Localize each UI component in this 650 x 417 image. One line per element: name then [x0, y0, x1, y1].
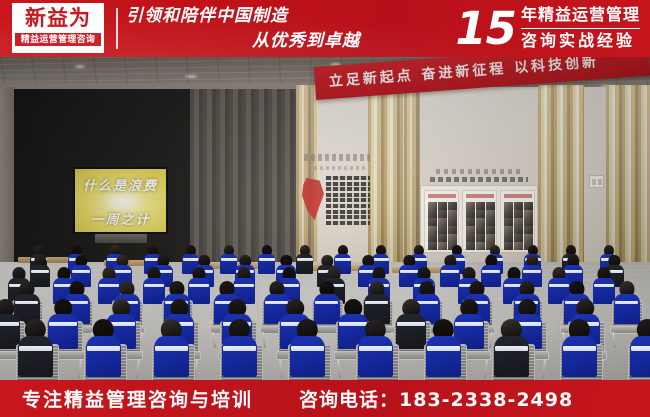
- uniform-reflective-stripe: [523, 270, 541, 272]
- board-photo-thumbnail: [428, 234, 437, 242]
- board-photo-thumbnail: [466, 210, 475, 218]
- attendee-torso: [440, 265, 460, 288]
- header-divider: [116, 8, 118, 49]
- board-photo-thumbnail: [486, 226, 495, 234]
- board-photo-thumbnail: [476, 210, 485, 218]
- board-photo-thumbnail: [514, 226, 523, 234]
- chair-leg: [279, 359, 283, 378]
- board-photo-thumbnail: [524, 234, 533, 242]
- attendee-torso: [222, 336, 257, 377]
- uniform-reflective-stripe: [427, 346, 459, 350]
- attendee-torso: [154, 336, 189, 377]
- slide-text-line-1: 什么是浪费: [75, 175, 166, 194]
- panel-header: [428, 194, 456, 198]
- seated-attendee: [440, 255, 460, 287]
- uniform-reflective-stripe: [0, 322, 19, 326]
- chair-leg: [78, 359, 82, 378]
- board-photo-thumbnail: [524, 226, 533, 234]
- seated-attendee: [222, 319, 257, 377]
- uniform-reflective-stripe: [291, 346, 323, 350]
- seated-attendee: [396, 299, 426, 349]
- stage-curtain: [190, 87, 305, 267]
- board-photo-thumbnail: [448, 210, 457, 218]
- board-heading-line-1: [436, 169, 522, 174]
- uniform-reflective-stripe: [482, 270, 500, 272]
- uniform-reflective-stripe: [615, 301, 639, 304]
- footer-tagline: 专注精益管理咨询与培训: [22, 385, 253, 412]
- board-photo-thumbnail: [428, 210, 437, 218]
- slide-text-line-2: 一周之计: [75, 209, 166, 228]
- board-photo-thumbnail: [514, 202, 523, 210]
- china-map-graphic: [302, 178, 324, 220]
- attendee-torso: [290, 336, 325, 377]
- board-photo-thumbnail: [514, 242, 523, 250]
- board-heading-line-2: [430, 177, 528, 182]
- board-photo-thumbnail: [504, 210, 513, 218]
- board-photo-thumbnail: [476, 202, 485, 210]
- chair-leg: [484, 359, 488, 378]
- board-photo-thumbnail: [466, 218, 475, 226]
- board-photo-thumbnail: [486, 210, 495, 218]
- board-photo-thumbnail: [448, 226, 457, 234]
- attendee-torso: [18, 336, 53, 377]
- board-panel: [424, 190, 459, 250]
- chair-leg: [263, 332, 266, 348]
- seated-attendee: [258, 245, 275, 274]
- projection-screen-content: 什么是浪费 一周之计: [75, 169, 166, 232]
- seated-attendee: [358, 319, 393, 377]
- projection-screen: 什么是浪费 一周之计: [73, 167, 168, 234]
- years-number: 15: [455, 6, 516, 51]
- seated-attendee: [630, 319, 650, 377]
- chair-leg: [136, 359, 140, 378]
- years-line-1: 年精益运营管理: [521, 5, 640, 29]
- uniform-reflective-stripe: [49, 322, 77, 326]
- board-photo-thumbnail: [524, 202, 533, 210]
- board-photo-thumbnail: [476, 226, 485, 234]
- chair-leg: [213, 332, 216, 348]
- board-photo-thumbnail: [448, 234, 457, 242]
- display-board: [420, 185, 538, 253]
- board-photo-thumbnail: [476, 234, 485, 242]
- attendee-torso: [426, 336, 461, 377]
- seated-attendee: [143, 267, 165, 304]
- stage-top-edge: [0, 83, 300, 89]
- uniform-reflective-stripe: [297, 258, 313, 260]
- uniform-reflective-stripe: [335, 258, 351, 260]
- uniform-reflective-stripe: [397, 322, 425, 326]
- board-photo-thumbnail: [448, 218, 457, 226]
- board-photo-thumbnail: [504, 234, 513, 242]
- header-banner: 新益为 精益运营管理咨询 引领和陪伴中国制造 从优秀到卓越 15 年精益运营管理…: [0, 0, 650, 57]
- board-panel: [462, 190, 497, 250]
- seated-attendee: [86, 319, 121, 377]
- chair-leg: [337, 359, 341, 378]
- logo-sub-text: 精益运营管理咨询: [15, 33, 101, 46]
- uniform-reflective-stripe: [359, 346, 391, 350]
- header-slogan: 引领和陪伴中国制造 从优秀到卓越: [126, 4, 366, 54]
- wall-poster-red: [300, 152, 372, 247]
- seated-attendee: [18, 319, 53, 377]
- seated-attendee: [614, 281, 640, 324]
- slogan-line-2: 从优秀到卓越: [126, 29, 366, 53]
- board-photo-thumbnail: [524, 210, 533, 218]
- board-photo-thumbnail: [466, 242, 475, 250]
- uniform-reflective-stripe: [221, 258, 237, 260]
- chair-leg: [542, 359, 546, 378]
- uniform-reflective-stripe: [259, 258, 275, 260]
- logo-main-text: 新益为: [15, 5, 101, 32]
- board-photo-thumbnail: [504, 226, 513, 234]
- board-photo-thumbnail: [466, 234, 475, 242]
- light-switch-panel: [589, 175, 604, 188]
- board-photo-thumbnail: [438, 242, 447, 250]
- panel-header: [466, 194, 494, 198]
- slogan-line-1: 引领和陪伴中国制造: [126, 4, 366, 29]
- left-pillar: [0, 87, 14, 272]
- attendee-torso: [258, 254, 275, 274]
- footer-phone: 咨询电话：183-2338-2498: [299, 385, 573, 412]
- attendee-torso: [630, 336, 650, 377]
- uniform-reflective-stripe: [87, 346, 119, 350]
- board-photo-thumbnail: [438, 234, 447, 242]
- uniform-reflective-stripe: [19, 346, 51, 350]
- board-photo-thumbnail: [476, 242, 485, 250]
- board-photo-thumbnail: [514, 210, 523, 218]
- panel-header: [504, 194, 532, 198]
- uniform-reflective-stripe: [223, 346, 255, 350]
- uniform-reflective-stripe: [144, 284, 165, 287]
- uniform-reflective-stripe: [631, 346, 650, 350]
- promo-image: 新益为 精益运营管理咨询 引领和陪伴中国制造 从优秀到卓越 15 年精益运营管理…: [0, 0, 650, 417]
- chair-leg: [613, 332, 616, 348]
- board-photo-thumbnail: [448, 202, 457, 210]
- training-room-photo: 什么是浪费 一周之计 立足新起点 奋进新征程 以科技创新: [0, 57, 650, 380]
- seated-attendee: [426, 319, 461, 377]
- uniform-reflective-stripe: [155, 346, 187, 350]
- seated-attendee: [562, 319, 597, 377]
- uniform-reflective-stripe: [563, 346, 595, 350]
- board-photo-thumbnail: [524, 218, 533, 226]
- seated-attendee: [290, 319, 325, 377]
- years-text: 年精益运营管理 咨询实战经验: [521, 5, 640, 53]
- uniform-reflective-stripe: [315, 301, 339, 304]
- uniform-reflective-stripe: [495, 346, 527, 350]
- screen-stand: [95, 234, 147, 243]
- board-photo-thumbnail: [428, 218, 437, 226]
- board-photo-thumbnail: [428, 242, 437, 250]
- board-photo-thumbnail: [486, 218, 495, 226]
- board-photo-thumbnail: [514, 234, 523, 242]
- poster-text-rows: [326, 176, 370, 228]
- years-line-2: 咨询实战经验: [521, 29, 640, 53]
- board-photo-thumbnail: [438, 210, 447, 218]
- attendee-torso: [562, 336, 597, 377]
- seated-attendee: [494, 319, 529, 377]
- board-photo-thumbnail: [476, 218, 485, 226]
- board-photo-thumbnail: [428, 202, 437, 210]
- board-photo-thumbnail: [428, 226, 437, 234]
- board-panel: [500, 190, 535, 250]
- uniform-reflective-stripe: [189, 284, 210, 287]
- board-photo-thumbnail: [486, 202, 495, 210]
- board-photo-thumbnail: [438, 226, 447, 234]
- attendee-torso: [358, 336, 393, 377]
- uniform-reflective-stripe: [441, 270, 459, 272]
- poster-subtitle-text: [308, 166, 366, 170]
- board-photo-thumbnail: [466, 226, 475, 234]
- board-photo-thumbnail: [438, 218, 447, 226]
- attendee-torso: [86, 336, 121, 377]
- board-photo-thumbnail: [504, 242, 513, 250]
- board-photo-thumbnail: [466, 202, 475, 210]
- uniform-reflective-stripe: [594, 284, 615, 287]
- board-photo-thumbnail: [504, 202, 513, 210]
- poster-title-text: [304, 154, 370, 161]
- board-photo-thumbnail: [486, 234, 495, 242]
- board-photo-thumbnail: [514, 218, 523, 226]
- attendee-torso: [494, 336, 529, 377]
- experience-badge: 15 年精益运营管理 咨询实战经验: [455, 1, 640, 56]
- company-logo: 新益为 精益运营管理咨询: [12, 3, 104, 53]
- seated-attendee: [314, 281, 340, 324]
- uniform-reflective-stripe: [31, 270, 49, 272]
- seated-attendee: [154, 319, 189, 377]
- display-board-heading: [430, 169, 528, 183]
- attendee-torso: [396, 314, 426, 349]
- board-photo-thumbnail: [504, 218, 513, 226]
- board-photo-thumbnail: [438, 202, 447, 210]
- footer-banner: 专注精益管理咨询与培训 咨询电话：183-2338-2498: [0, 380, 650, 417]
